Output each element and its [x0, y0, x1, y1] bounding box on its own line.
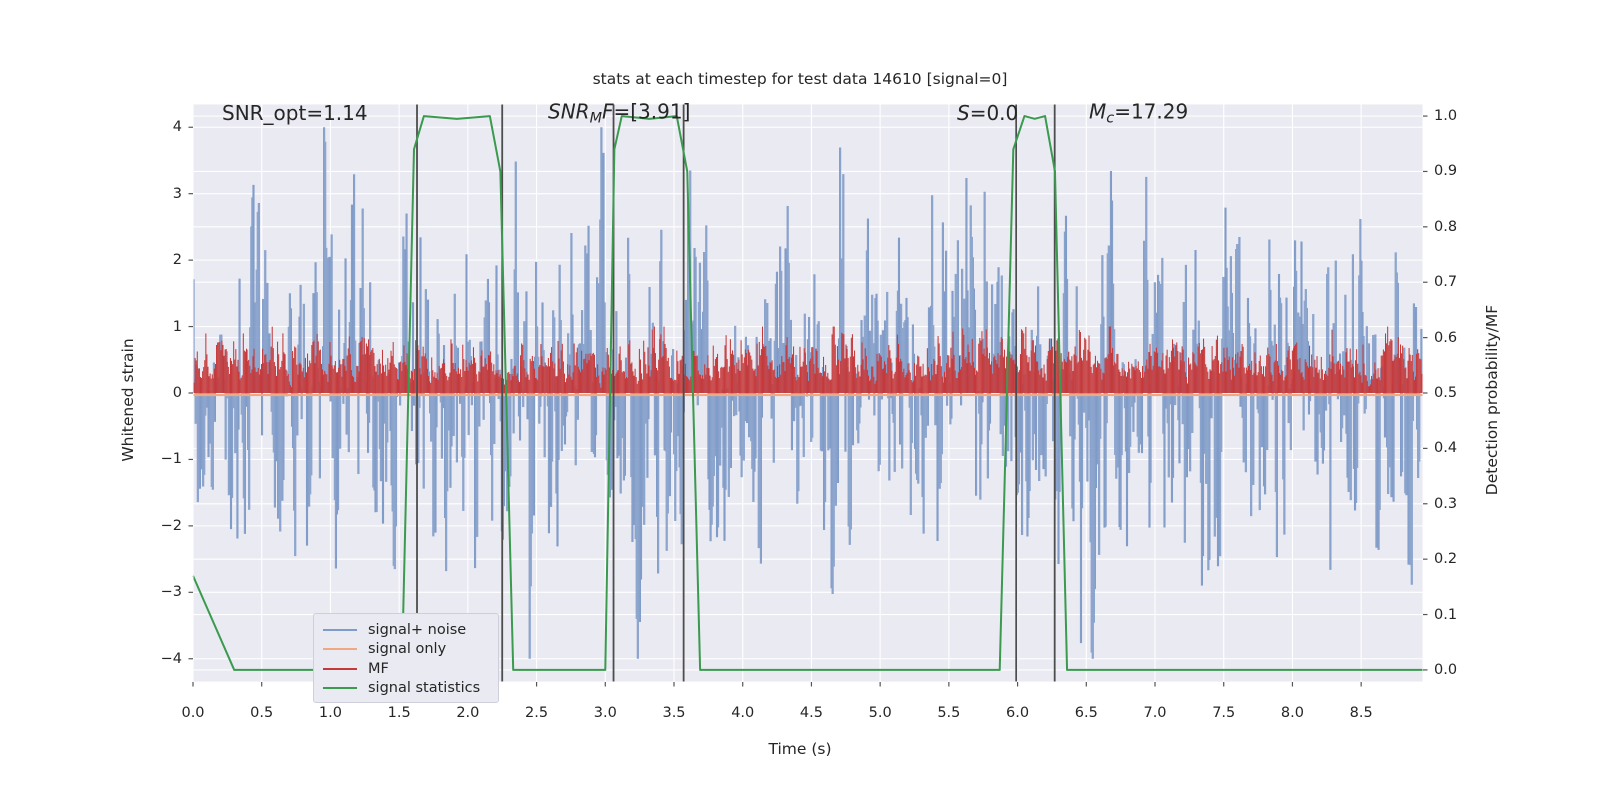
x-tick-label: 2.5 — [525, 705, 548, 721]
legend-item[interactable]: MF — [323, 659, 489, 679]
legend-label: signal only — [368, 641, 446, 657]
y-tick-label-right: 0.0 — [1434, 662, 1457, 678]
annotation-s-stat: S=0.0 — [957, 101, 1018, 125]
x-tick-label: 4.0 — [731, 705, 754, 721]
x-tick-label: 0.5 — [250, 705, 273, 721]
y-tick-label-left: −1 — [161, 451, 182, 467]
y-tick-label-left: −2 — [161, 518, 182, 534]
x-tick-label: 7.5 — [1212, 705, 1235, 721]
legend-label: signal statistics — [368, 680, 480, 696]
y-tick-label-left: 3 — [173, 186, 182, 202]
legend-item[interactable]: signal only — [323, 640, 489, 660]
y-tick-label-right: 0.1 — [1434, 607, 1457, 623]
y-axis-label-left: Whitened strain — [119, 338, 137, 461]
page-title: stats at each timestep for test data 146… — [0, 70, 1600, 88]
x-tick-label: 5.5 — [937, 705, 960, 721]
legend-label: MF — [368, 661, 389, 677]
annotation-snr-opt: SNR_opt=1.14 — [222, 101, 368, 125]
x-tick-label: 7.0 — [1143, 705, 1166, 721]
x-tick-label: 8.0 — [1281, 705, 1304, 721]
y-tick-label-left: 4 — [173, 119, 182, 135]
x-axis-label: Time (s) — [768, 740, 831, 758]
y-tick-label-left: 1 — [173, 319, 182, 335]
annotation-snr-mf: SNRMF=[3.91] — [548, 100, 690, 127]
x-tick-label: 0.0 — [181, 705, 204, 721]
x-tick-label: 8.5 — [1350, 705, 1373, 721]
legend: signal+ noisesignal onlyMFsignal statist… — [313, 613, 499, 703]
x-tick-label: 3.5 — [662, 705, 685, 721]
y-tick-label-left: 0 — [173, 385, 182, 401]
x-tick-label: 3.0 — [594, 705, 617, 721]
annotation-chirp-mass: Mc=17.29 — [1089, 100, 1188, 127]
x-tick-label: 5.0 — [869, 705, 892, 721]
x-tick-label: 1.0 — [319, 705, 342, 721]
y-tick-label-right: 0.5 — [1434, 385, 1457, 401]
y-tick-label-right: 0.8 — [1434, 219, 1457, 235]
y-tick-label-right: 0.2 — [1434, 551, 1457, 567]
y-tick-label-right: 0.3 — [1434, 496, 1457, 512]
legend-swatch-icon — [323, 648, 357, 650]
x-tick-label: 6.5 — [1075, 705, 1098, 721]
x-tick-label: 1.5 — [388, 705, 411, 721]
y-tick-label-right: 0.9 — [1434, 163, 1457, 179]
legend-swatch-icon — [323, 668, 357, 670]
y-tick-label-right: 0.4 — [1434, 440, 1457, 456]
x-tick-label: 4.5 — [800, 705, 823, 721]
x-tick-label: 6.0 — [1006, 705, 1029, 721]
figure: stats at each timestep for test data 146… — [0, 0, 1600, 800]
y-tick-label-left: −3 — [161, 584, 182, 600]
legend-swatch-icon — [323, 687, 357, 689]
legend-item[interactable]: signal statistics — [323, 679, 489, 699]
y-tick-label-right: 1.0 — [1434, 108, 1457, 124]
legend-label: signal+ noise — [368, 622, 466, 638]
y-tick-label-right: 0.6 — [1434, 330, 1457, 346]
y-axis-label-right: Detection probability/MF — [1483, 305, 1501, 495]
y-tick-label-right: 0.7 — [1434, 274, 1457, 290]
legend-item[interactable]: signal+ noise — [323, 620, 489, 640]
legend-swatch-icon — [323, 629, 357, 631]
y-tick-label-left: 2 — [173, 252, 182, 268]
y-tick-label-left: −4 — [161, 651, 182, 667]
x-tick-label: 2.0 — [456, 705, 479, 721]
